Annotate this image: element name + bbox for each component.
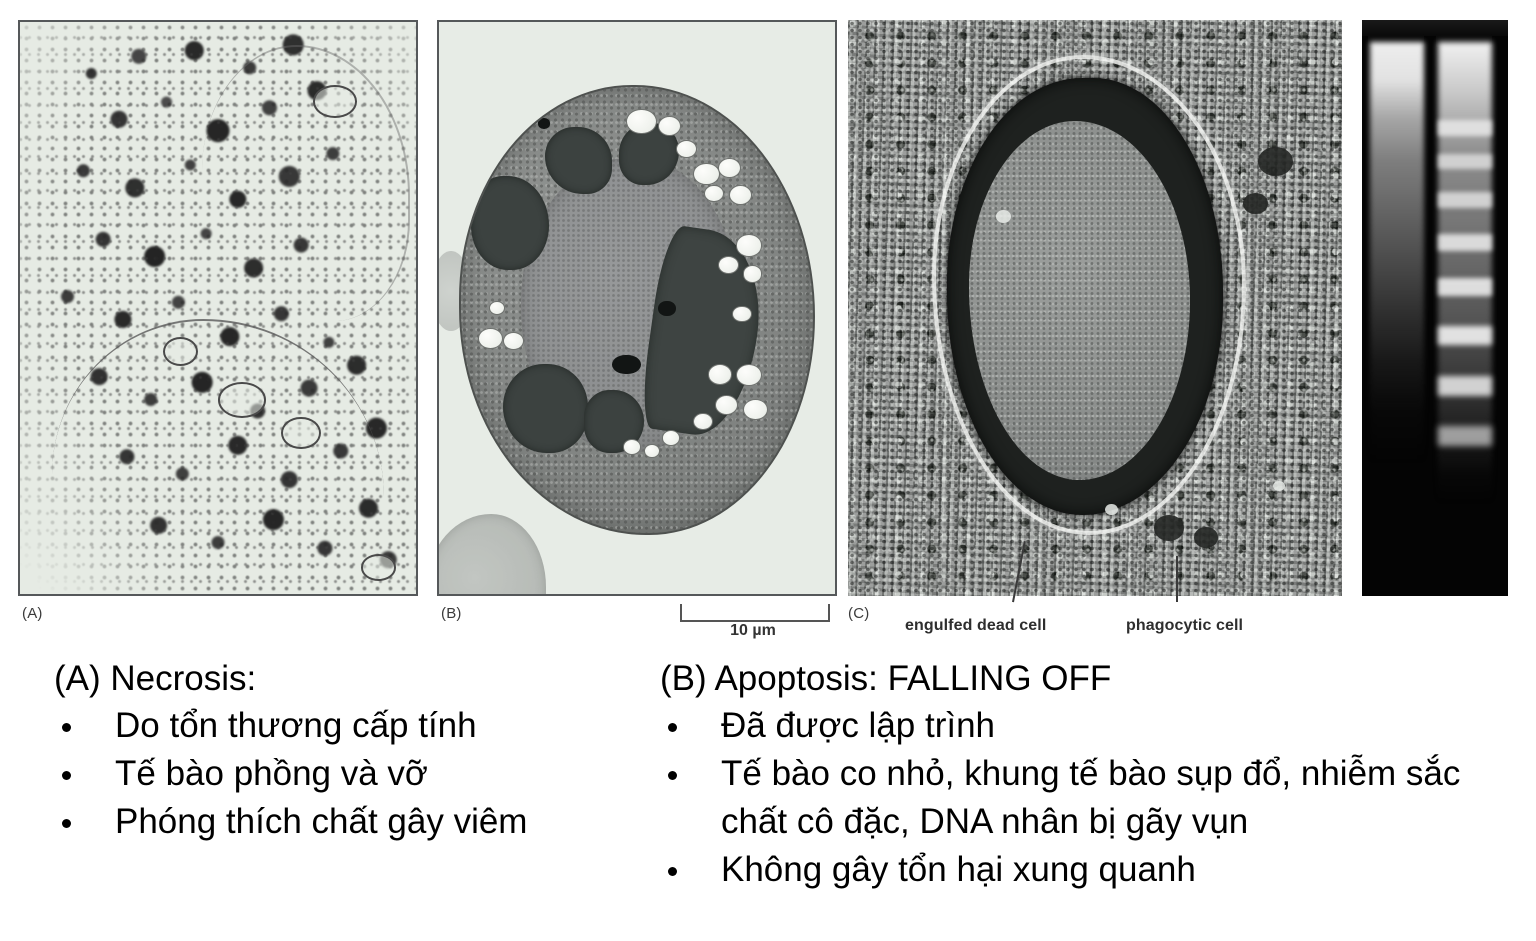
panel-b-vesicle xyxy=(715,395,738,415)
apoptosis-heading: (B) Apoptosis: FALLING OFF xyxy=(660,655,1510,702)
necrosis-bullet-item: Tế bào phồng và vỡ xyxy=(54,750,644,798)
panel-a-vacuole xyxy=(281,417,321,450)
necrosis-bullet-text: Tế bào phồng và vỡ xyxy=(115,754,428,793)
necrosis-bullet-item: Phóng thích chất gây viêm xyxy=(54,798,644,846)
necrosis-bullet-text: Do tổn thương cấp tính xyxy=(115,706,477,745)
bullet-dot-icon xyxy=(62,771,71,780)
apoptosis-bullet-item: Tế bào co nhỏ, khung tế bào sụp đổ, nhiễ… xyxy=(660,750,1510,846)
panel-c-dense-body xyxy=(1243,193,1268,214)
panel-b-apoptotic-cell xyxy=(459,85,815,535)
gel-smear-signal xyxy=(1370,42,1424,462)
leader-line-phagocytic-cell xyxy=(1176,556,1178,602)
panel-c-bright-granule xyxy=(1105,504,1118,515)
panel-b-vesicle xyxy=(736,364,763,387)
panel-b-vesicle xyxy=(743,399,768,420)
panel-b-vesicle xyxy=(658,116,681,136)
panel-b-vesicle xyxy=(693,413,713,430)
panel-b-condensed-chromatin xyxy=(471,176,549,270)
panel-label-a: (A) xyxy=(22,605,43,622)
gel-band xyxy=(1438,426,1492,446)
necrosis-heading: (A) Necrosis: xyxy=(54,655,644,702)
necrosis-column: (A) Necrosis: Do tổn thương cấp tính Tế … xyxy=(54,655,644,846)
bullet-dot-icon xyxy=(668,867,677,876)
necrosis-bullet-text: Phóng thích chất gây viêm xyxy=(115,802,527,841)
panel-b-vesicle xyxy=(623,439,641,454)
panel-b-dense-granule xyxy=(612,355,640,375)
micrograph-panel-b xyxy=(437,20,837,596)
bullet-dot-icon xyxy=(668,723,677,732)
gel-band xyxy=(1438,326,1492,345)
panel-c-dense-body xyxy=(1154,515,1184,540)
figure-strip: (A) (B) (C) 10 µm engulfed dead cell pha… xyxy=(0,0,1536,648)
bullet-dot-icon xyxy=(62,819,71,828)
panel-b-condensed-chromatin xyxy=(503,364,588,453)
apoptosis-bullet-list: Đã được lập trình Tế bào co nhỏ, khung t… xyxy=(660,702,1510,894)
dna-gel-panel xyxy=(1362,20,1508,596)
necrosis-bullet-list: Do tổn thương cấp tính Tế bào phồng và v… xyxy=(54,702,644,846)
gel-lane-ladder xyxy=(1438,42,1492,502)
scale-bar xyxy=(680,604,830,622)
panel-b-vesicle xyxy=(732,306,752,323)
scale-bar-label: 10 µm xyxy=(680,622,826,640)
panel-c-dense-body xyxy=(1194,527,1219,548)
apoptosis-bullet-text: Đã được lập trình xyxy=(721,706,995,745)
panel-c-dense-body xyxy=(1258,147,1293,176)
apoptosis-column: (B) Apoptosis: FALLING OFF Đã được lập t… xyxy=(660,655,1510,894)
panel-a-vacuole xyxy=(361,554,397,581)
panel-a-vacuole xyxy=(313,85,357,118)
gel-band xyxy=(1438,376,1492,396)
panel-b-vesicle xyxy=(626,109,656,134)
apoptosis-bullet-item: Không gây tổn hại xung quanh xyxy=(660,846,1510,894)
panel-b-vesicle xyxy=(743,265,763,282)
gel-band xyxy=(1438,278,1492,296)
annotation-phagocytic-cell: phagocytic cell xyxy=(1126,617,1243,635)
gel-band xyxy=(1438,192,1492,208)
apoptosis-bullet-item: Đã được lập trình xyxy=(660,702,1510,750)
apoptosis-bullet-text: Tế bào co nhỏ, khung tế bào sụp đổ, nhiễ… xyxy=(721,754,1460,841)
annotation-engulfed-dead-cell: engulfed dead cell xyxy=(905,617,1046,635)
panel-b-vesicle xyxy=(729,185,752,205)
panel-c-bright-granule xyxy=(1273,481,1285,491)
panel-b-vesicle xyxy=(704,185,724,202)
panel-c-bright-granule xyxy=(996,210,1011,223)
panel-c-engulfed-dead-cell xyxy=(947,78,1224,516)
micrograph-panel-c xyxy=(848,20,1342,596)
panel-a-vacuole xyxy=(218,382,266,417)
apoptosis-bullet-text: Không gây tổn hại xung quanh xyxy=(721,850,1196,889)
panel-b-vesicle xyxy=(736,234,763,257)
gel-band xyxy=(1438,234,1492,251)
panel-b-dense-granule xyxy=(658,301,676,316)
gel-band xyxy=(1438,120,1492,136)
gel-band xyxy=(1438,154,1492,169)
panel-b-vesicle xyxy=(662,430,680,445)
bullet-dot-icon xyxy=(62,723,71,732)
bullet-dot-icon xyxy=(668,771,677,780)
micrograph-panel-a xyxy=(18,20,418,596)
gel-lane-smear xyxy=(1370,42,1424,462)
panel-label-b: (B) xyxy=(441,605,462,622)
panel-b-dense-granule xyxy=(538,118,550,129)
panel-b-vesicle xyxy=(693,163,720,186)
necrosis-bullet-item: Do tổn thương cấp tính xyxy=(54,702,644,750)
panel-c-dead-cell-grain xyxy=(969,121,1190,480)
panel-c-dead-cell-core xyxy=(969,121,1190,480)
panel-label-c: (C) xyxy=(848,605,869,622)
slide-text-area: (A) Necrosis: Do tổn thương cấp tính Tế … xyxy=(0,655,1536,941)
panel-b-vesicle xyxy=(708,364,733,385)
